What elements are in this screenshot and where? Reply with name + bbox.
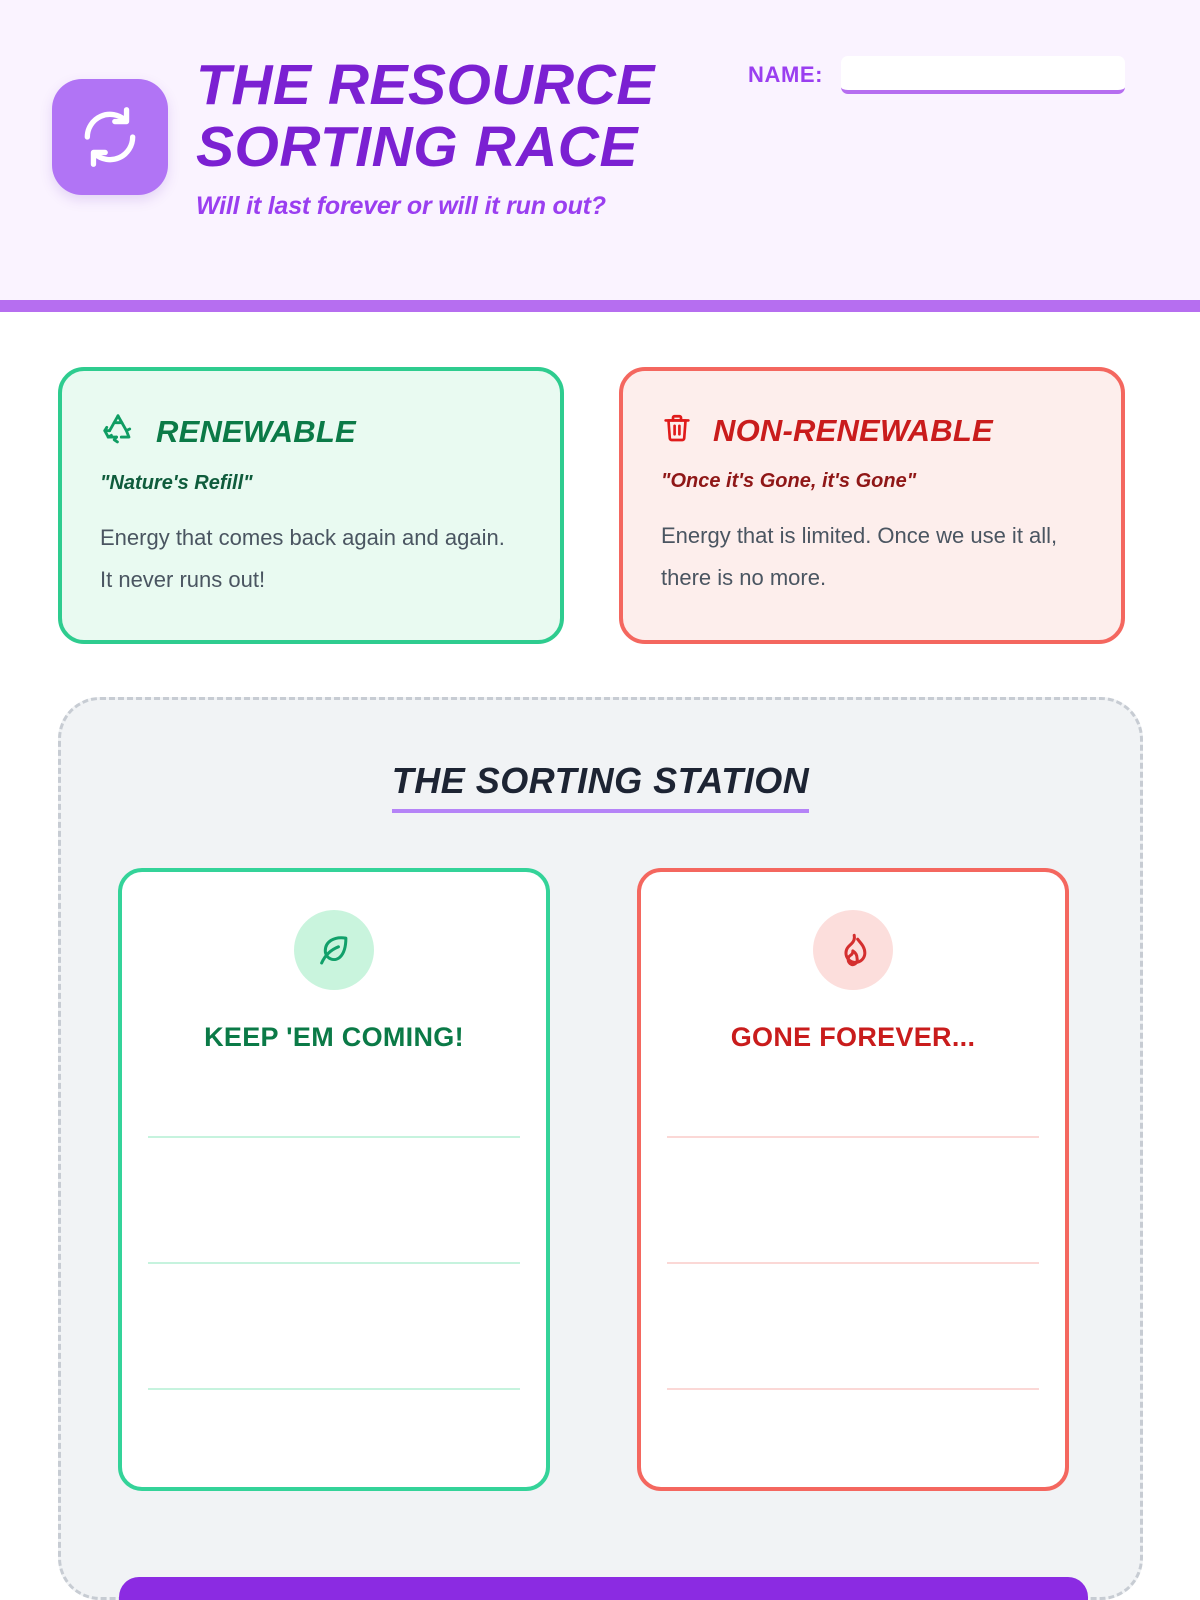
page-header: THE RESOURCE SORTING RACE Will it last f… bbox=[0, 0, 1200, 300]
leaf-icon bbox=[294, 910, 374, 990]
definition-title-nonrenewable: NON-RENEWABLE bbox=[713, 413, 993, 449]
writing-line bbox=[148, 1262, 520, 1264]
definition-body-renewable: Energy that comes back again and again. … bbox=[100, 517, 522, 601]
trash-icon bbox=[661, 411, 693, 450]
writing-line bbox=[667, 1262, 1039, 1264]
definition-quote-nonrenewable: "Once it's Gone, it's Gone" bbox=[661, 470, 1083, 493]
name-label: NAME: bbox=[748, 56, 823, 88]
definition-card-nonrenewable: NON-RENEWABLE "Once it's Gone, it's Gone… bbox=[619, 367, 1125, 644]
page-subtitle: Will it last forever or will it run out? bbox=[196, 192, 716, 221]
writing-line bbox=[667, 1136, 1039, 1138]
sorting-bin-gone-forever[interactable]: GONE FOREVER... bbox=[637, 868, 1069, 1491]
footer-banner-bar bbox=[119, 1577, 1088, 1600]
writing-lines-red bbox=[667, 1136, 1039, 1514]
name-row: NAME: bbox=[748, 56, 1125, 94]
name-input[interactable] bbox=[841, 56, 1125, 94]
definition-quote-renewable: "Nature's Refill" bbox=[100, 472, 522, 495]
sorting-station: THE SORTING STATION KEEP 'EM COMING! bbox=[58, 697, 1143, 1600]
title-line-2: SORTING RACE bbox=[196, 120, 716, 176]
sorting-bin-title-keep-em-coming: KEEP 'EM COMING! bbox=[122, 1022, 546, 1053]
definition-title-renewable: RENEWABLE bbox=[156, 414, 356, 450]
sorting-bin-keep-em-coming[interactable]: KEEP 'EM COMING! bbox=[118, 868, 550, 1491]
page-title: THE RESOURCE SORTING RACE Will it last f… bbox=[196, 58, 716, 221]
header-divider bbox=[0, 300, 1200, 312]
definition-body-nonrenewable: Energy that is limited. Once we use it a… bbox=[661, 515, 1083, 599]
writing-lines-green bbox=[148, 1136, 520, 1514]
writing-line bbox=[148, 1136, 520, 1138]
sorting-station-title: THE SORTING STATION bbox=[392, 760, 810, 813]
title-line-1: THE RESOURCE bbox=[196, 58, 716, 114]
recycle-icon bbox=[100, 411, 136, 452]
worksheet-page: THE RESOURCE SORTING RACE Will it last f… bbox=[0, 0, 1200, 1600]
recycle-cycle-icon bbox=[52, 79, 168, 195]
sorting-bin-title-gone-forever: GONE FOREVER... bbox=[641, 1022, 1065, 1053]
sorting-station-title-wrap: THE SORTING STATION bbox=[61, 760, 1140, 813]
definition-card-renewable: RENEWABLE "Nature's Refill" Energy that … bbox=[58, 367, 564, 644]
definition-header-renewable: RENEWABLE bbox=[100, 411, 522, 452]
writing-line bbox=[148, 1388, 520, 1390]
writing-line bbox=[667, 1388, 1039, 1390]
flame-icon bbox=[813, 910, 893, 990]
definition-header-nonrenewable: NON-RENEWABLE bbox=[661, 411, 1083, 450]
